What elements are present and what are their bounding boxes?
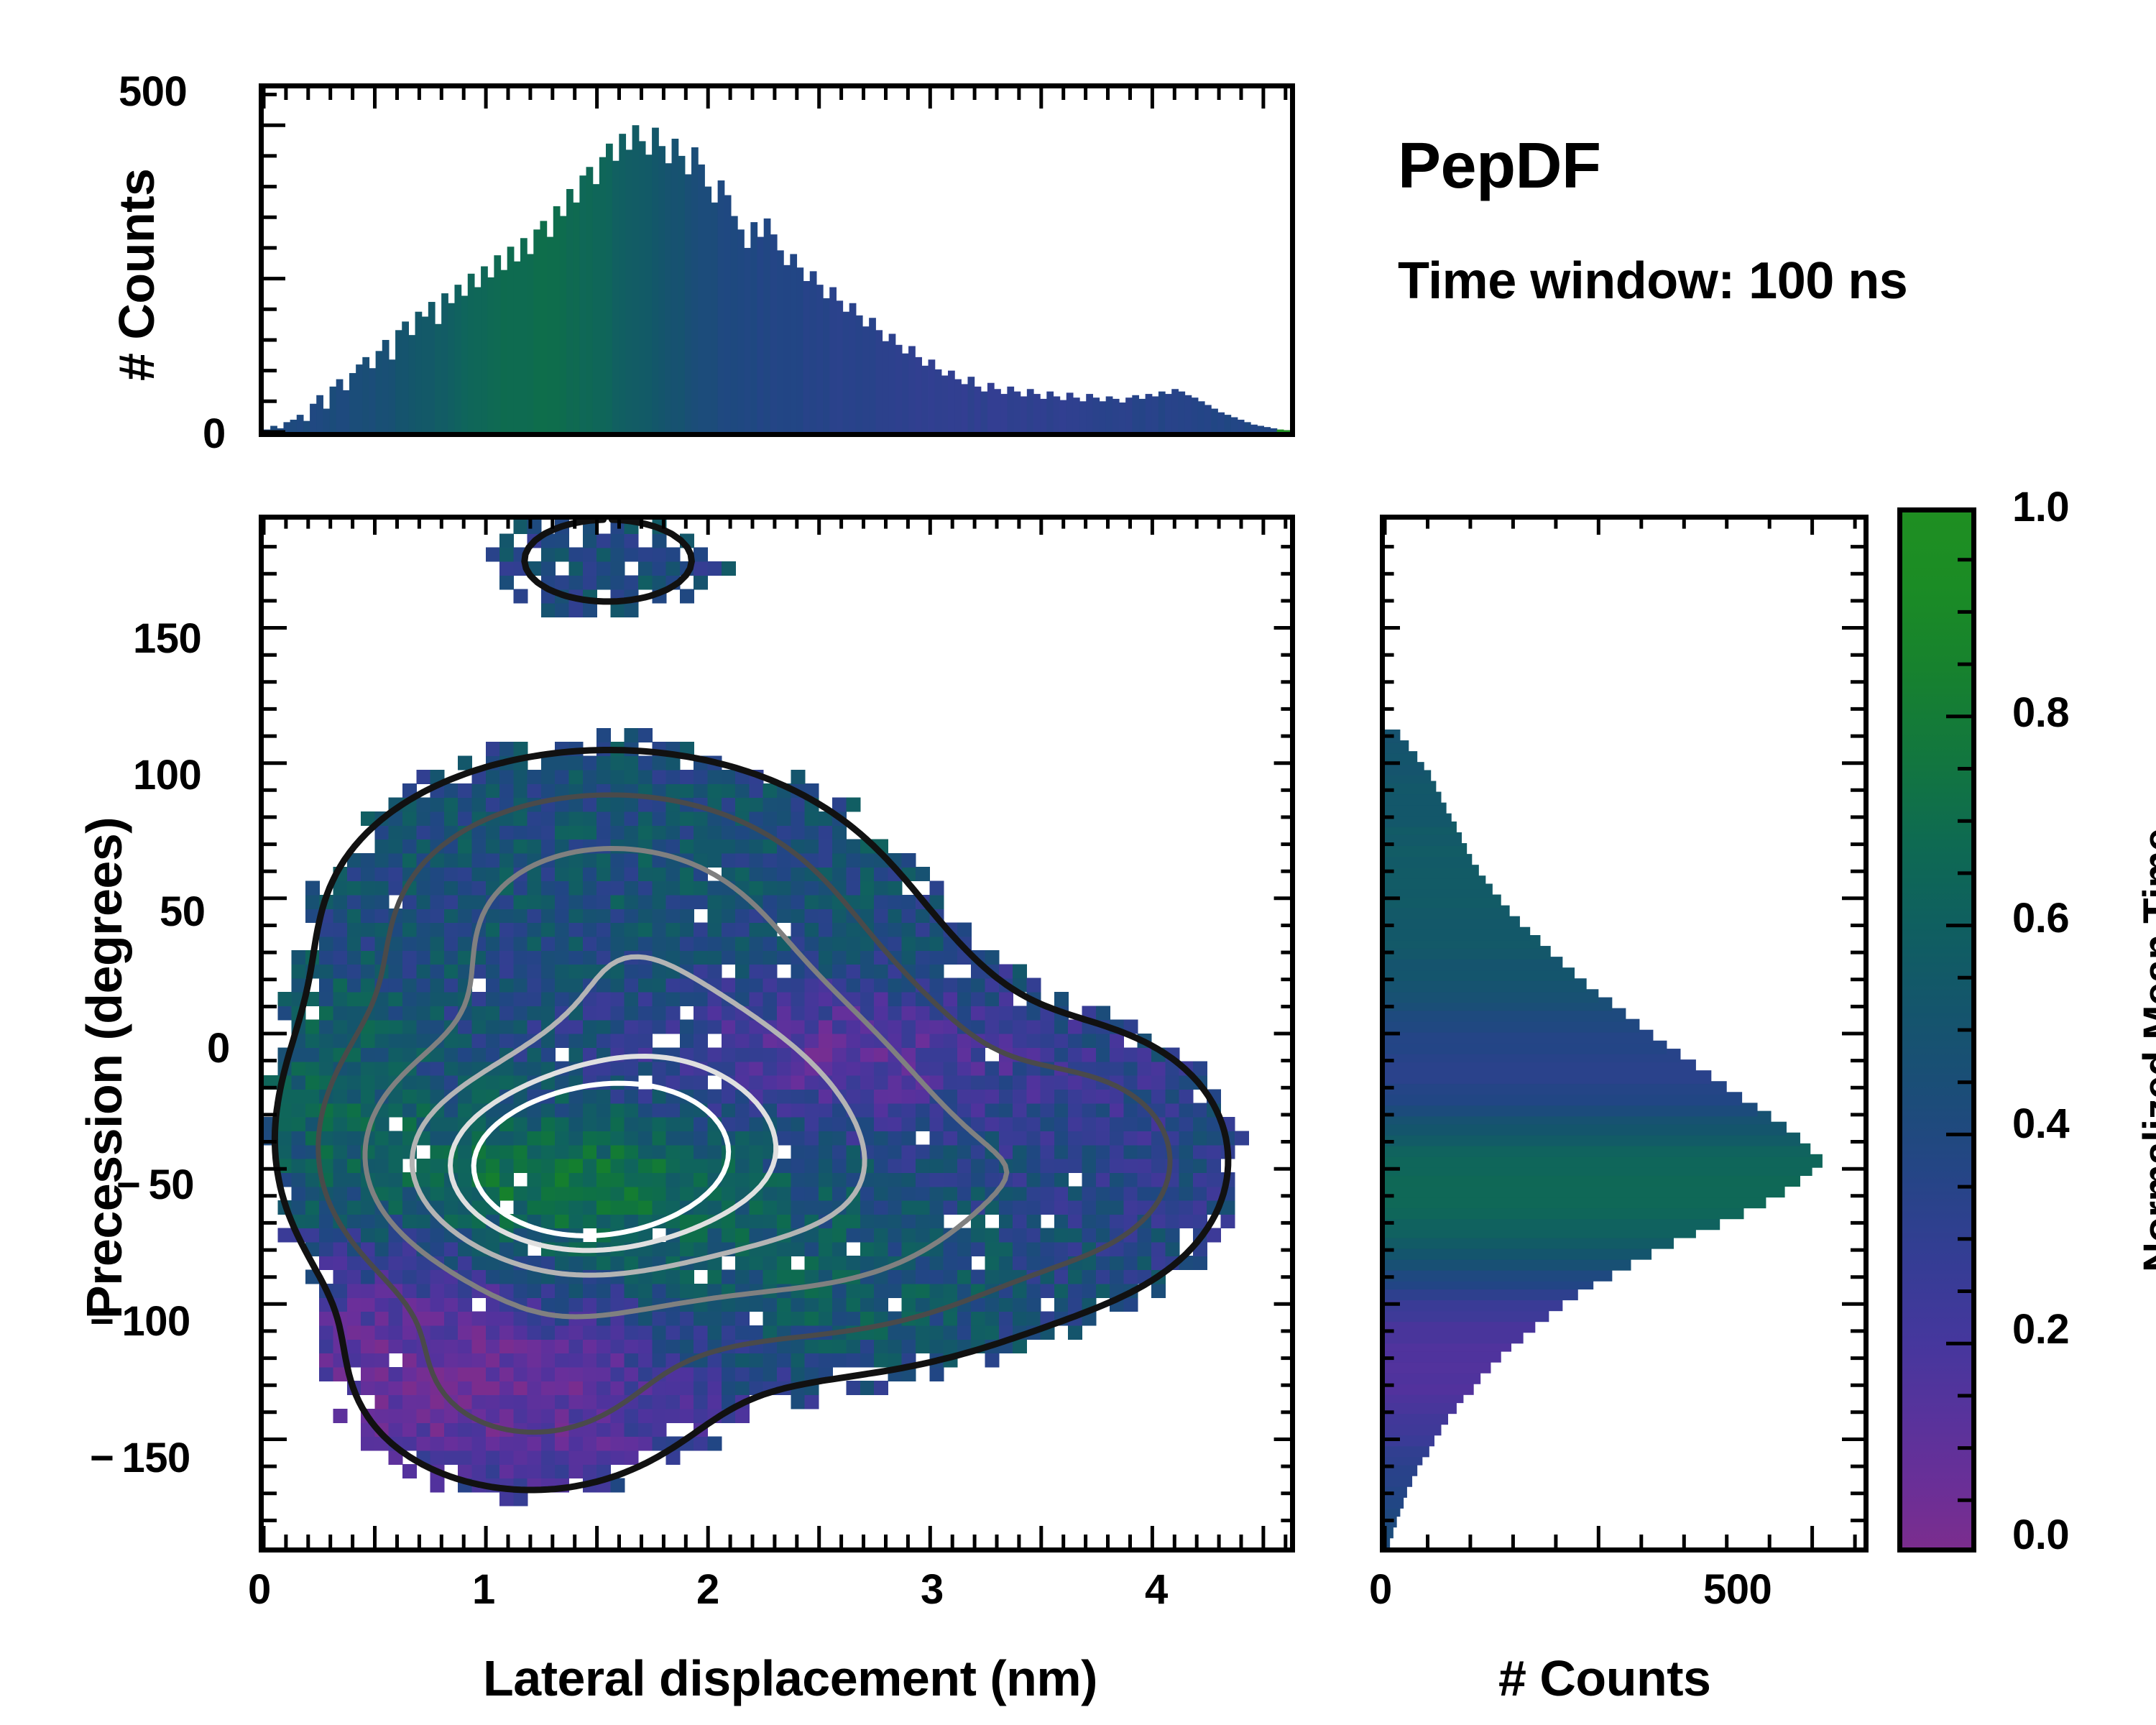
main-ytick-150: 150 (133, 615, 201, 663)
colorbar-tick-0-6: 0.6 (2012, 894, 2069, 942)
main-panel-ylabel: Precession (degrees) (75, 817, 133, 1319)
top-ytick-500: 500 (119, 68, 187, 116)
right-xtick-0: 0 (1369, 1565, 1392, 1614)
main-xtick-4: 4 (1145, 1565, 1168, 1614)
top-marginal-histogram-panel (259, 83, 1295, 437)
colorbar-ticks (1897, 507, 2012, 1552)
main-ytick-100: 100 (133, 751, 201, 799)
main-xtick-2: 2 (696, 1565, 719, 1614)
top-histogram-plot (264, 88, 1290, 432)
main-heatmap-panel (259, 515, 1295, 1552)
main-xtick-1: 1 (472, 1565, 495, 1614)
main-xtick-3: 3 (921, 1565, 944, 1614)
right-marginal-histogram-panel (1380, 515, 1869, 1552)
top-ytick-0: 0 (203, 410, 226, 458)
main-ytick-0: 0 (207, 1024, 230, 1072)
colorbar-tick-1-0: 1.0 (2012, 483, 2069, 531)
colorbar-tick-0-8: 0.8 (2012, 689, 2069, 737)
colorbar-tick-0-4: 0.4 (2012, 1100, 2069, 1148)
right-xtick-500: 500 (1703, 1565, 1772, 1614)
top-panel-ylabel: # Counts (108, 169, 165, 381)
right-histogram-plot (1385, 520, 1864, 1547)
annotation-title: PepDF (1398, 129, 1601, 203)
colorbar-label: Normalized Mean Time (2134, 829, 2156, 1272)
joint-heatmap-plot (264, 520, 1290, 1547)
colorbar-tick-0-0: 0.0 (2012, 1511, 2069, 1559)
annotation-subtitle: Time window: 100 ns (1398, 252, 1907, 310)
main-xtick-0: 0 (248, 1565, 271, 1614)
right-panel-xlabel: # Counts (1498, 1650, 1710, 1707)
colorbar-tick-0-2: 0.2 (2012, 1305, 2069, 1353)
main-ytick-neg150: − 150 (90, 1434, 190, 1482)
main-ytick-50: 50 (160, 888, 206, 936)
figure-canvas: PepDF Time window: 100 ns 500 0 # Counts… (0, 0, 2156, 1725)
main-panel-xlabel: Lateral displacement (nm) (483, 1650, 1097, 1707)
